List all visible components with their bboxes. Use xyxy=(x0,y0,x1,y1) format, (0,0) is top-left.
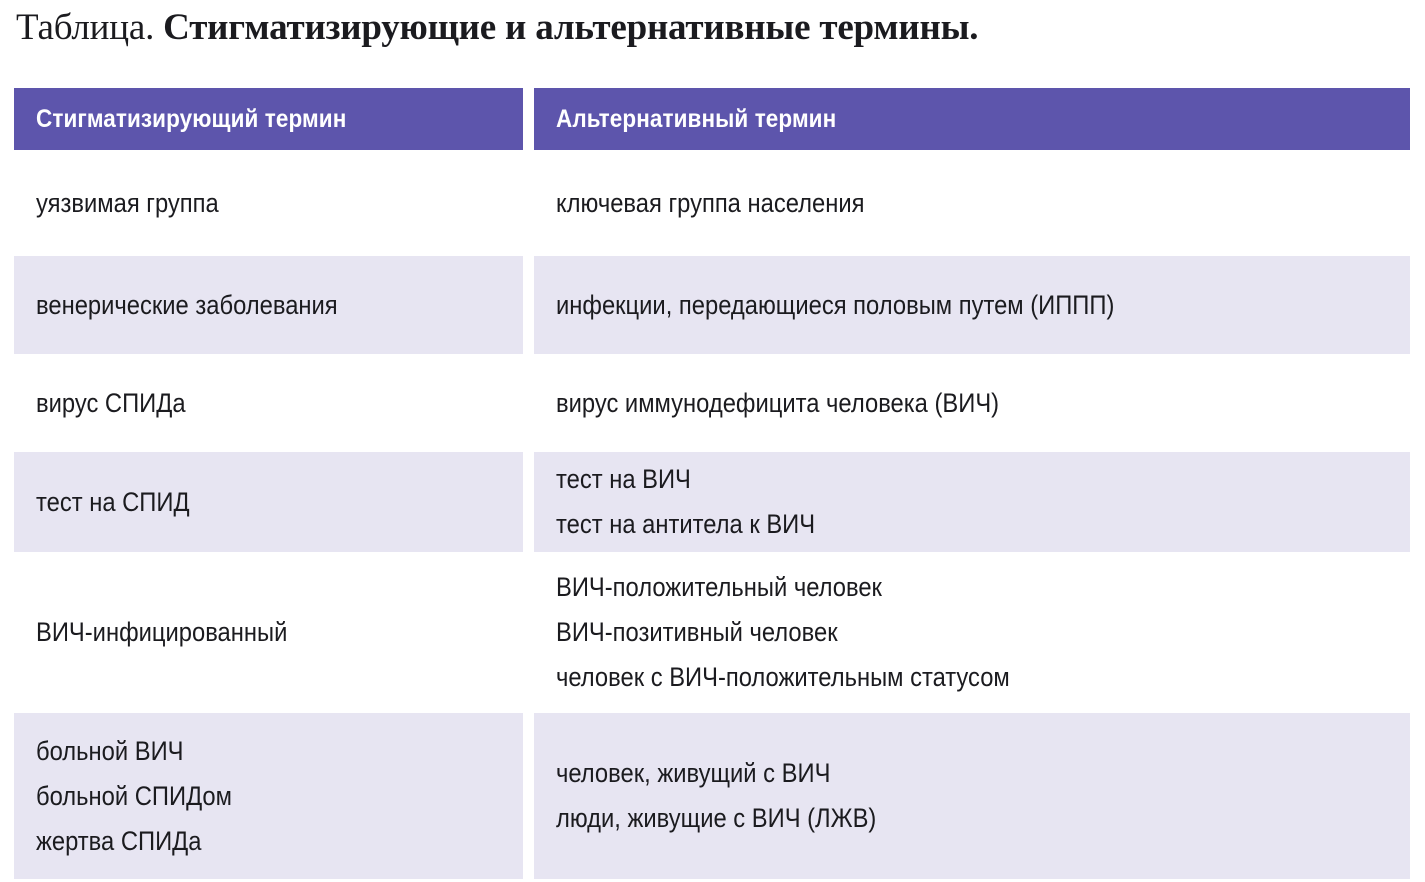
term-line: человек с ВИЧ-положительным статусом xyxy=(556,655,1288,700)
table-row: больной ВИЧ больной СПИДом жертва СПИДа … xyxy=(14,713,1410,879)
table-row: ВИЧ-инфицированный ВИЧ-положительный чел… xyxy=(14,555,1410,710)
term-line: вирус СПИДа xyxy=(36,381,445,426)
term-line: инфекции, передающиеся половым путем (ИП… xyxy=(556,283,1288,328)
terms-table: Стигматизирующий термин Альтернативный т… xyxy=(14,88,1410,882)
cell-alternative: вирус иммунодефицита человека (ВИЧ) xyxy=(534,357,1410,449)
term-line: уязвимая группа xyxy=(36,181,445,226)
term-line: больной ВИЧ xyxy=(36,729,445,774)
term-line: тест на СПИД xyxy=(36,480,445,525)
cell-stigmatizing: тест на СПИД xyxy=(14,452,523,552)
term-line: тест на антитела к ВИЧ xyxy=(556,502,1288,547)
figure-title: Таблица. Стигматизирующие и альтернативн… xyxy=(16,4,1406,52)
term-line: тест на ВИЧ xyxy=(556,457,1288,502)
term-line: ВИЧ-инфицированный xyxy=(36,610,445,655)
term-line: венерические заболевания xyxy=(36,283,445,328)
cell-alternative: инфекции, передающиеся половым путем (ИП… xyxy=(534,256,1410,354)
term-line: ключевая группа населения xyxy=(556,181,1288,226)
table-row: венерические заболевания инфекции, перед… xyxy=(14,256,1410,354)
cell-alternative: тест на ВИЧ тест на антитела к ВИЧ xyxy=(534,452,1410,552)
cell-stigmatizing: ВИЧ-инфицированный xyxy=(14,555,523,710)
figure-title-label: Таблица. xyxy=(16,6,154,50)
header-label-alternative: Альтернативный термин xyxy=(556,105,1305,133)
cell-alternative: человек, живущий с ВИЧ люди, живущие с В… xyxy=(534,713,1410,879)
cell-stigmatizing: вирус СПИДа xyxy=(14,357,523,449)
cell-stigmatizing: венерические заболевания xyxy=(14,256,523,354)
term-line: человек, живущий с ВИЧ xyxy=(556,751,1288,796)
header-cell-stigmatizing: Стигматизирующий термин xyxy=(14,88,523,150)
table-row: тест на СПИД тест на ВИЧ тест на антител… xyxy=(14,452,1410,552)
cell-alternative: ВИЧ-положительный человек ВИЧ-позитивный… xyxy=(534,555,1410,710)
table-row: вирус СПИДа вирус иммунодефицита человек… xyxy=(14,357,1410,449)
term-line: люди, живущие с ВИЧ (ЛЖВ) xyxy=(556,796,1288,841)
figure-title-text: Стигматизирующие и альтернативные термин… xyxy=(163,6,978,50)
table-header-row: Стигматизирующий термин Альтернативный т… xyxy=(14,88,1410,150)
cell-stigmatizing: уязвимая группа xyxy=(14,153,523,253)
term-line: жертва СПИДа xyxy=(36,819,445,864)
term-line: вирус иммунодефицита человека (ВИЧ) xyxy=(556,381,1288,426)
table-row: уязвимая группа ключевая группа населени… xyxy=(14,153,1410,253)
cell-alternative: ключевая группа населения xyxy=(534,153,1410,253)
term-line: ВИЧ-положительный человек xyxy=(556,565,1288,610)
header-cell-alternative: Альтернативный термин xyxy=(534,88,1410,150)
term-line: ВИЧ-позитивный человек xyxy=(556,610,1288,655)
term-line: больной СПИДом xyxy=(36,774,445,819)
cell-stigmatizing: больной ВИЧ больной СПИДом жертва СПИДа xyxy=(14,713,523,879)
table-figure-page: Таблица. Стигматизирующие и альтернативн… xyxy=(0,0,1425,880)
header-label-stigmatizing: Стигматизирующий термин xyxy=(36,105,455,133)
